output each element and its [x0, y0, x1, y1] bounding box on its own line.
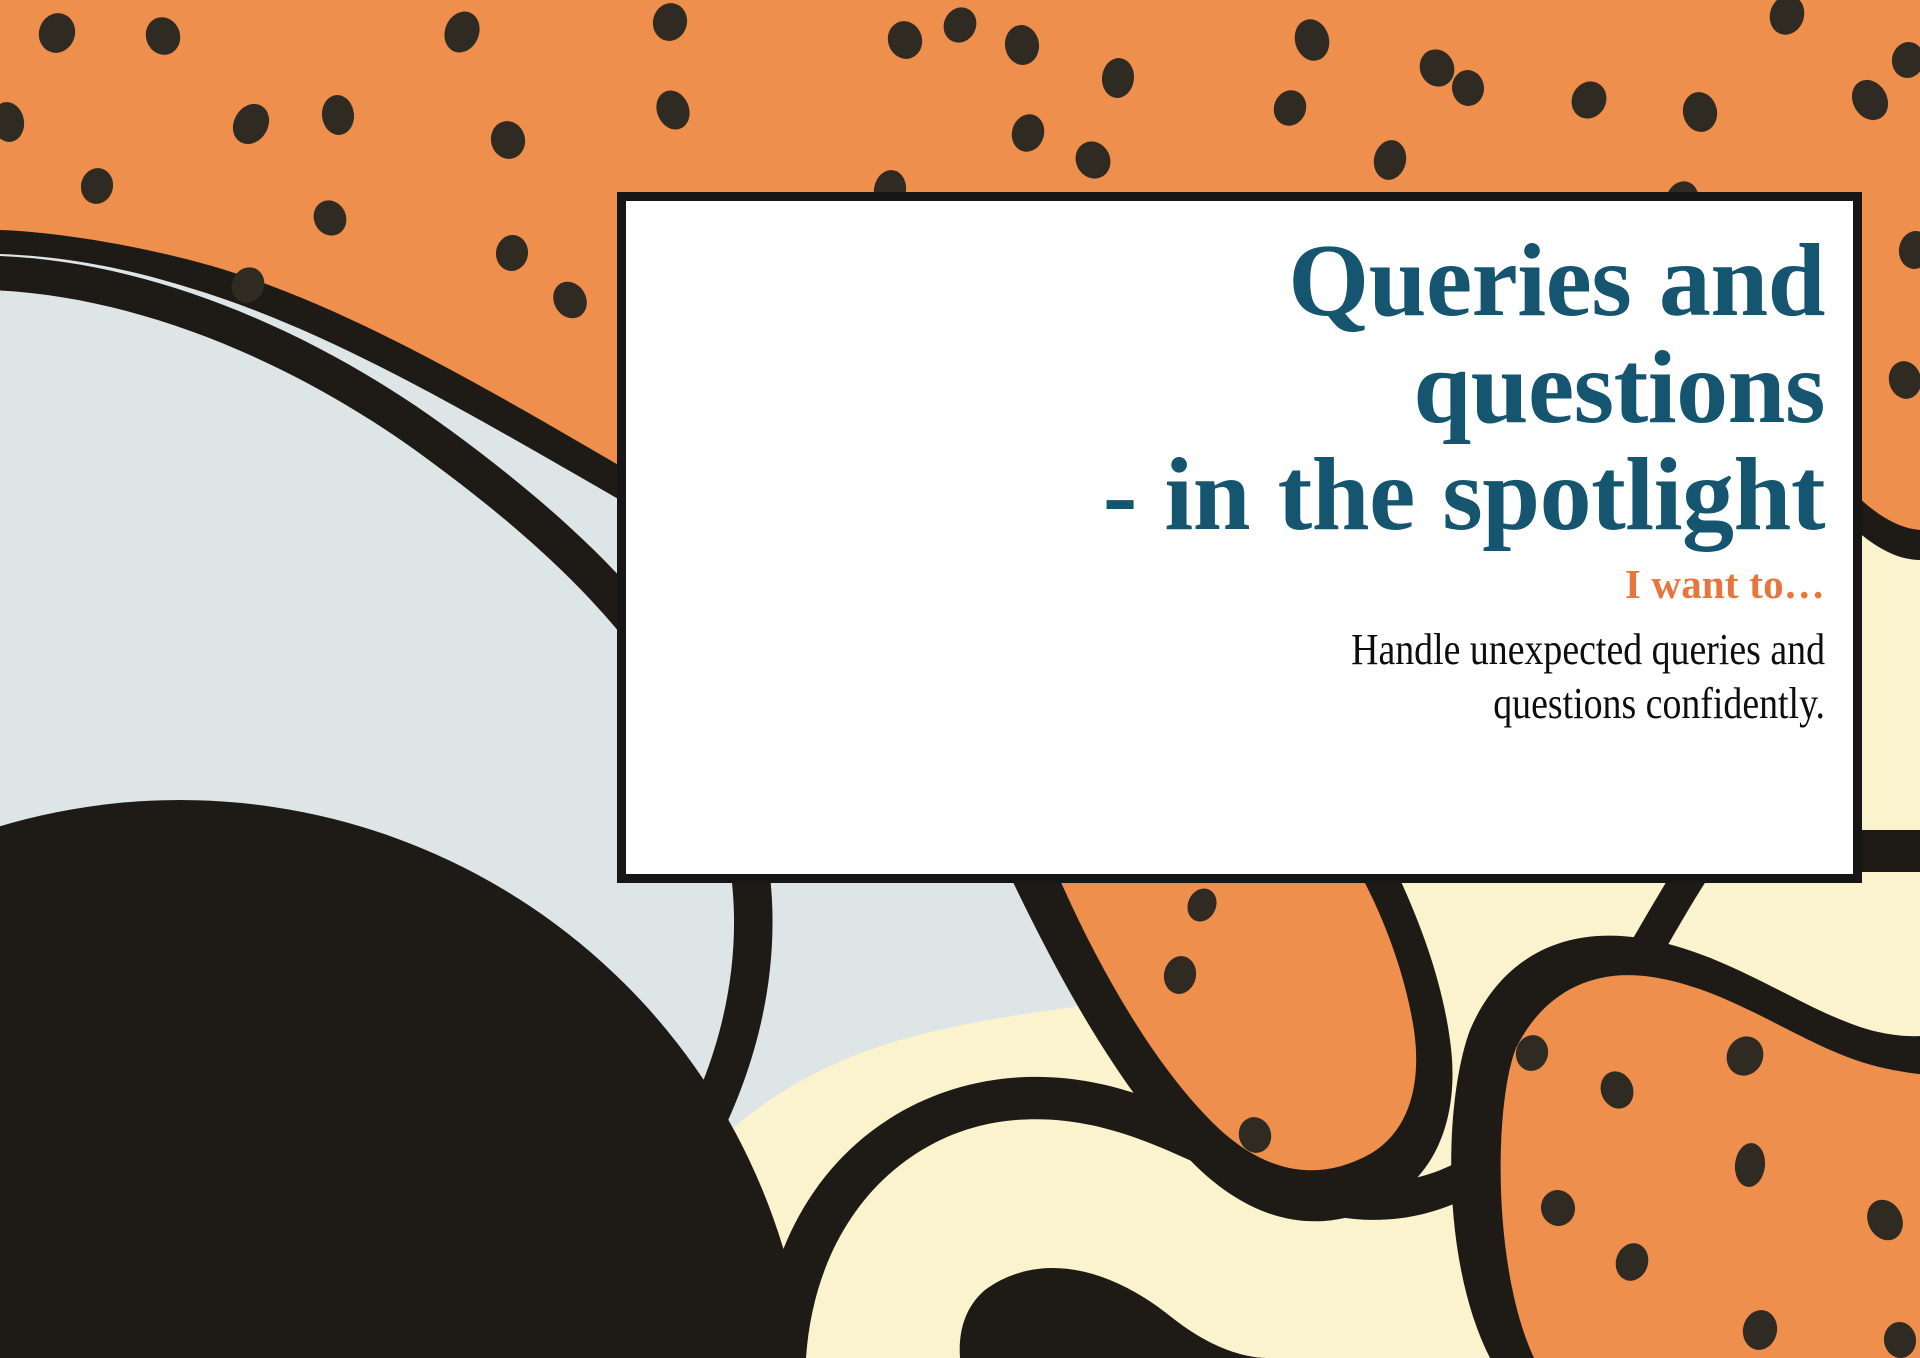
title-line-2: questions [1413, 330, 1825, 445]
eyebrow-label: I want to… [660, 562, 1825, 607]
title-card: Queries and questions - in the spotlight… [617, 192, 1862, 883]
body-line-1: Handle unexpected queries and [1351, 625, 1825, 674]
body-line-2: questions confidently. [1493, 679, 1825, 728]
title-line-3: - in the spotlight [1103, 437, 1825, 552]
card-body-text: Handle unexpected queries and questions … [823, 623, 1825, 730]
slide-canvas: Queries and questions - in the spotlight… [0, 0, 1920, 1358]
title-line-1: Queries and [1288, 223, 1825, 338]
page-title: Queries and questions - in the spotlight [660, 227, 1825, 548]
